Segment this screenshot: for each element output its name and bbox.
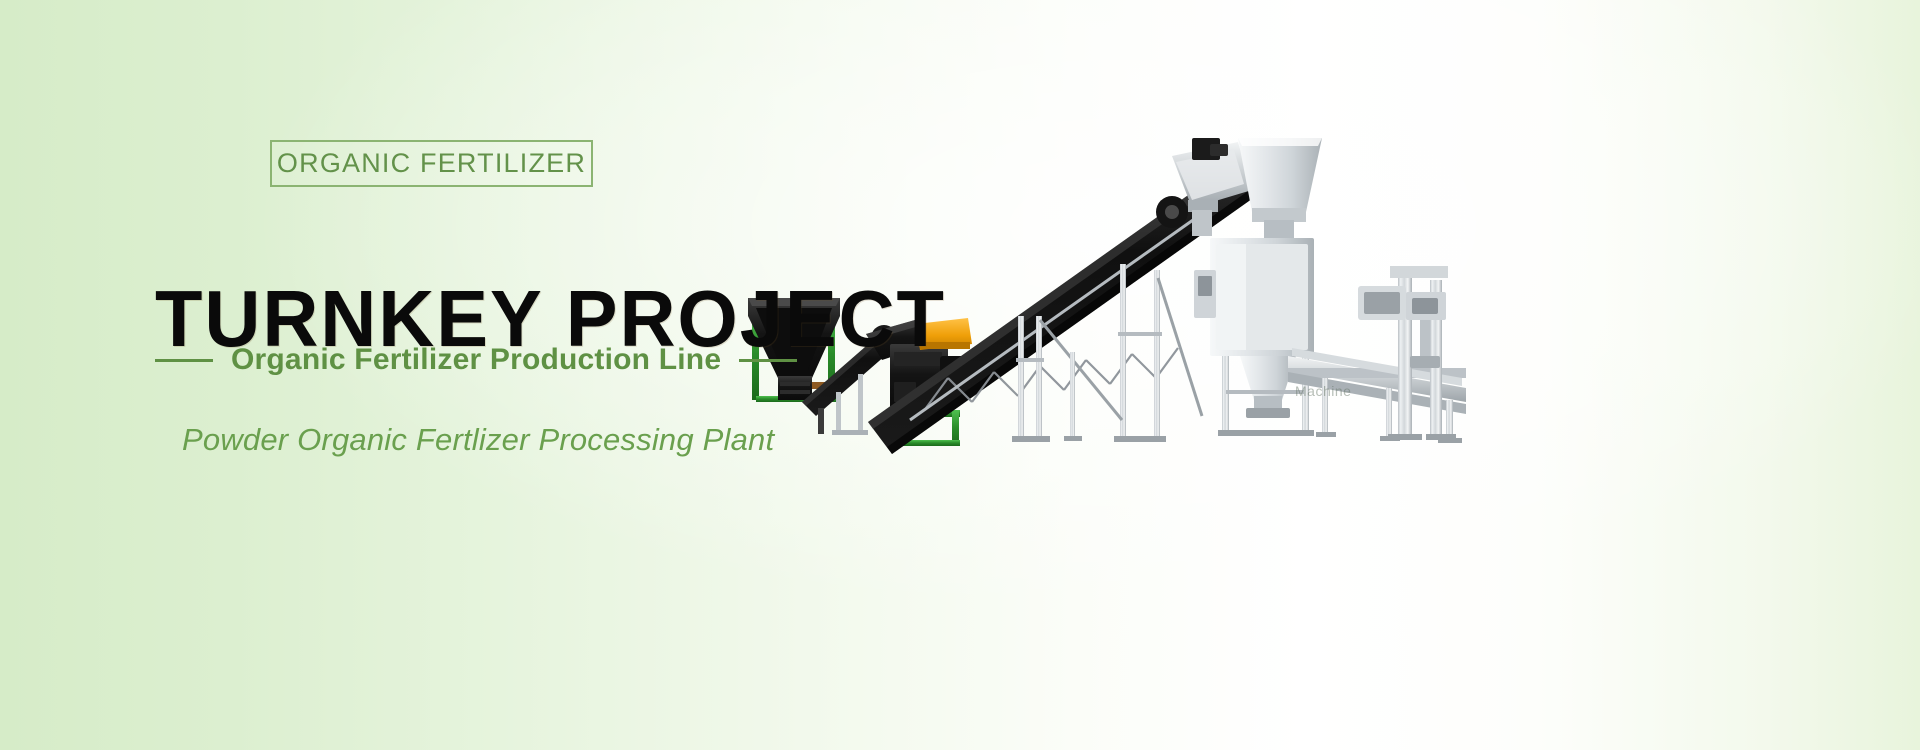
rule-left-icon [155, 359, 213, 362]
hero-text-block: ORGANIC FERTILIZER TURNKEY PROJECT Organ… [0, 0, 900, 750]
hero-banner: ORGANIC FERTILIZER TURNKEY PROJECT Organ… [0, 0, 1920, 750]
subtitle-label: Organic Fertilizer Production Line [231, 343, 721, 377]
category-badge: ORGANIC FERTILIZER [270, 140, 593, 187]
image-watermark: Machine [1295, 383, 1351, 399]
subtitle-row: Organic Fertilizer Production Line [155, 343, 797, 377]
tagline-label: Powder Organic Fertlizer Processing Plan… [182, 422, 774, 458]
rule-right-icon [739, 359, 797, 362]
sewing-gantry [1358, 266, 1456, 440]
category-badge-label: ORGANIC FERTILIZER [277, 148, 586, 179]
